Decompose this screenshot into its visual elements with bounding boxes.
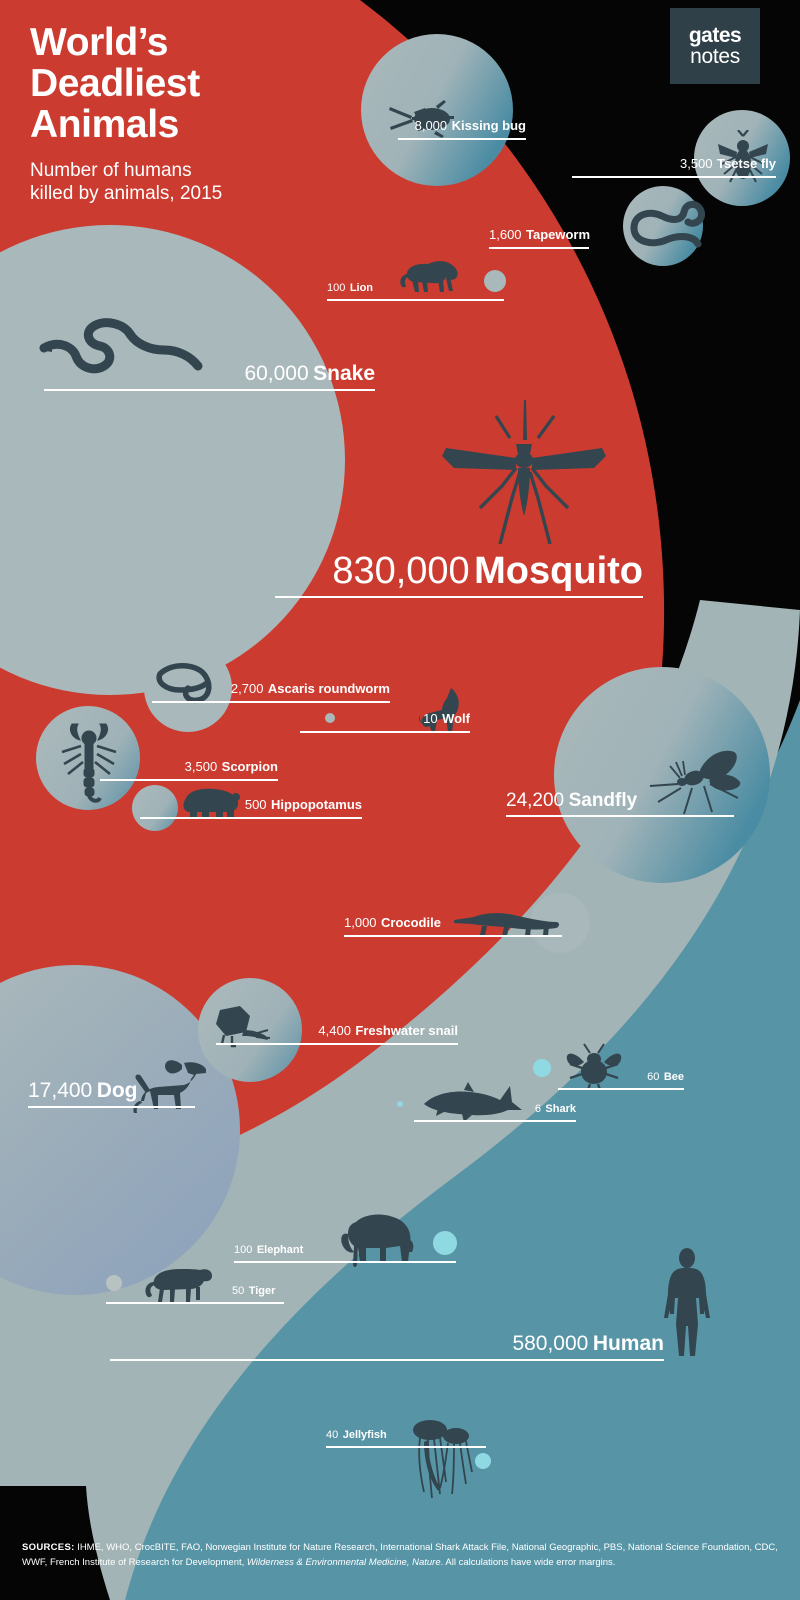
value-wolf: 10 — [423, 711, 437, 726]
page-title: World’s Deadliest Animals — [30, 22, 222, 145]
rule-freshwater-snail — [216, 1043, 458, 1045]
infographic-canvas: World’s Deadliest Animals Number of huma… — [0, 0, 800, 1600]
label-ascaris-roundworm: 2,700 Ascaris roundworm — [152, 680, 390, 703]
gates-notes-logo[interactable]: gates notes — [670, 8, 760, 84]
name-scorpion: Scorpion — [222, 759, 278, 774]
label-sandfly: 24,200 Sandfly — [506, 790, 734, 817]
value-kissing-bug: 8,000 — [415, 118, 448, 133]
label-tsetse-fly: 3,500 Tsetse fly — [572, 155, 776, 178]
name-hippopotamus: Hippopotamus — [271, 797, 362, 812]
label-crocodile: 1,000 Crocodile — [344, 914, 562, 937]
sources-body-b: . All calculations have wide error margi… — [441, 1557, 616, 1568]
label-snake: 60,000 Snake — [44, 362, 375, 391]
logo-line-notes: notes — [690, 46, 740, 68]
subtitle-line-1: Number of humans — [30, 160, 192, 181]
value-bee: 60 — [647, 1071, 659, 1083]
name-wolf: Wolf — [442, 711, 470, 726]
value-tsetse-fly: 3,500 — [680, 156, 713, 171]
label-shark: 6 Shark — [414, 1099, 576, 1122]
rule-wolf — [300, 731, 470, 733]
name-bee: Bee — [664, 1071, 684, 1083]
value-dog: 17,400 — [28, 1079, 92, 1102]
name-human: Human — [593, 1332, 664, 1355]
title-line-2: Deadliest — [30, 62, 200, 105]
label-hippopotamus: 500 Hippopotamus — [140, 796, 362, 819]
label-wolf: 10 Wolf — [300, 710, 470, 733]
title-line-3: Animals — [30, 103, 179, 146]
value-sandfly: 24,200 — [506, 790, 564, 811]
value-lion: 100 — [327, 282, 345, 294]
name-tsetse-fly: Tsetse fly — [717, 156, 776, 171]
rule-kissing-bug — [398, 138, 526, 140]
value-scorpion: 3,500 — [185, 759, 218, 774]
label-tiger: 50 Tiger — [106, 1281, 284, 1304]
name-crocodile: Crocodile — [381, 915, 441, 930]
label-kissing-bug: 8,000 Kissing bug — [398, 117, 526, 140]
rule-scorpion — [100, 779, 278, 781]
label-jellyfish: 40 Jellyfish — [326, 1425, 486, 1448]
sources-footer: SOURCES: IHME, WHO, CrocBITE, FAO, Norwe… — [0, 1540, 800, 1570]
name-kissing-bug: Kissing bug — [452, 118, 526, 133]
rule-lion — [327, 299, 504, 301]
rule-jellyfish — [326, 1446, 486, 1448]
value-shark: 6 — [535, 1103, 541, 1115]
label-human: 580,000 Human — [110, 1332, 664, 1361]
page-header: World’s Deadliest Animals Number of huma… — [30, 22, 222, 205]
name-ascaris-roundworm: Ascaris roundworm — [268, 681, 390, 696]
value-ascaris-roundworm: 2,700 — [231, 681, 264, 696]
sources-text: SOURCES: IHME, WHO, CrocBITE, FAO, Norwe… — [22, 1540, 778, 1570]
label-dog: 17,400 Dog — [28, 1079, 195, 1108]
mosquito-silhouette — [440, 398, 608, 548]
rule-human — [110, 1359, 664, 1361]
logo-line-gates: gates — [689, 25, 741, 46]
label-lion: 100 Lion — [327, 278, 504, 301]
name-freshwater-snail: Freshwater snail — [355, 1023, 458, 1038]
sources-italic: Wilderness & Environmental Medicine, Nat… — [247, 1557, 441, 1568]
tapeworm-silhouette — [628, 198, 706, 254]
value-crocodile: 1,000 — [344, 915, 377, 930]
rule-snake — [44, 389, 375, 391]
value-human: 580,000 — [512, 1332, 588, 1355]
name-shark: Shark — [545, 1103, 576, 1115]
sources-label: SOURCES: — [22, 1542, 75, 1553]
rule-crocodile — [344, 935, 562, 937]
page-subtitle: Number of humans killed by animals, 2015 — [30, 159, 222, 205]
human-silhouette — [660, 1248, 714, 1360]
label-scorpion: 3,500 Scorpion — [100, 758, 278, 781]
label-mosquito: 830,000 Mosquito — [275, 550, 643, 598]
value-hippopotamus: 500 — [245, 797, 267, 812]
name-lion: Lion — [350, 282, 373, 294]
rule-mosquito — [275, 596, 643, 598]
rule-shark — [414, 1120, 576, 1122]
name-jellyfish: Jellyfish — [343, 1429, 387, 1441]
name-sandfly: Sandfly — [569, 790, 638, 811]
value-freshwater-snail: 4,400 — [318, 1023, 351, 1038]
name-dog: Dog — [97, 1079, 138, 1102]
value-jellyfish: 40 — [326, 1429, 338, 1441]
name-tapeworm: Tapeworm — [526, 227, 590, 242]
name-snake: Snake — [313, 362, 375, 385]
title-line-1: World’s — [30, 21, 168, 64]
label-freshwater-snail: 4,400 Freshwater snail — [216, 1022, 458, 1045]
rule-sandfly — [506, 815, 734, 817]
rule-hippopotamus — [140, 817, 362, 819]
value-elephant: 100 — [234, 1244, 252, 1256]
value-snake: 60,000 — [244, 362, 308, 385]
name-elephant: Elephant — [257, 1244, 303, 1256]
rule-tsetse-fly — [572, 176, 776, 178]
rule-bee — [558, 1088, 684, 1090]
rule-tiger — [106, 1302, 284, 1304]
value-mosquito: 830,000 — [332, 550, 469, 592]
rule-tapeworm — [489, 247, 589, 249]
rule-ascaris-roundworm — [152, 701, 390, 703]
label-elephant: 100 Elephant — [234, 1240, 456, 1263]
name-mosquito: Mosquito — [474, 550, 643, 592]
rule-elephant — [234, 1261, 456, 1263]
value-tiger: 50 — [232, 1285, 244, 1297]
subtitle-line-2: killed by animals, 2015 — [30, 183, 222, 204]
value-tapeworm: 1,600 — [489, 227, 522, 242]
label-bee: 60 Bee — [558, 1067, 684, 1090]
rule-dog — [28, 1106, 195, 1108]
label-tapeworm: 1,600 Tapeworm — [489, 226, 589, 249]
name-tiger: Tiger — [249, 1285, 276, 1297]
